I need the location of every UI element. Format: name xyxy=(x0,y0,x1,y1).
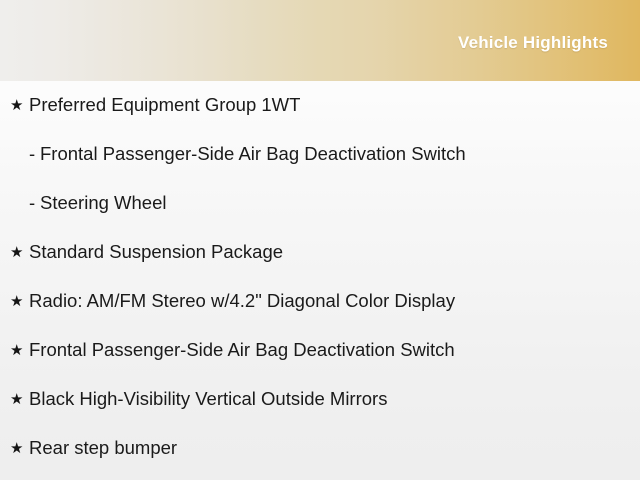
star-bullet-icon: ★ xyxy=(10,294,29,309)
highlight-item-label: Black High-Visibility Vertical Outside M… xyxy=(29,389,387,409)
dash-bullet-icon: - xyxy=(29,194,40,213)
star-bullet-icon: ★ xyxy=(10,392,29,407)
highlight-item-label: Frontal Passenger-Side Air Bag Deactivat… xyxy=(29,340,455,360)
highlight-item: ★Black High-Visibility Vertical Outside … xyxy=(0,375,640,424)
highlight-item: ★Radio: AM/FM Stereo w/4.2" Diagonal Col… xyxy=(0,277,640,326)
page-header: Vehicle Highlights xyxy=(0,0,640,81)
star-bullet-icon: ★ xyxy=(10,343,29,358)
highlight-sub-item: -Frontal Passenger-Side Air Bag Deactiva… xyxy=(0,130,640,179)
star-bullet-icon: ★ xyxy=(10,98,29,113)
highlight-item-label: Preferred Equipment Group 1WT xyxy=(29,95,300,115)
highlight-item-label: Standard Suspension Package xyxy=(29,242,283,262)
star-bullet-icon: ★ xyxy=(10,245,29,260)
highlight-sub-item: -Steering Wheel xyxy=(0,179,640,228)
highlight-item: ★Preferred Equipment Group 1WT xyxy=(0,81,640,130)
highlight-item: ★Rear step bumper xyxy=(0,424,640,473)
star-bullet-icon: ★ xyxy=(10,441,29,456)
highlight-item-label: Frontal Passenger-Side Air Bag Deactivat… xyxy=(40,144,466,164)
highlight-item: ★Standard Suspension Package xyxy=(0,228,640,277)
highlights-list: ★Preferred Equipment Group 1WT-Frontal P… xyxy=(0,81,640,473)
dash-bullet-icon: - xyxy=(29,145,40,164)
highlight-item-label: Rear step bumper xyxy=(29,438,177,458)
highlight-item-label: Steering Wheel xyxy=(40,193,166,213)
vehicle-highlights-page: Vehicle Highlights ★Preferred Equipment … xyxy=(0,0,640,480)
highlight-item-label: Radio: AM/FM Stereo w/4.2" Diagonal Colo… xyxy=(29,291,455,311)
page-title: Vehicle Highlights xyxy=(458,30,640,51)
highlight-item: ★Frontal Passenger-Side Air Bag Deactiva… xyxy=(0,326,640,375)
